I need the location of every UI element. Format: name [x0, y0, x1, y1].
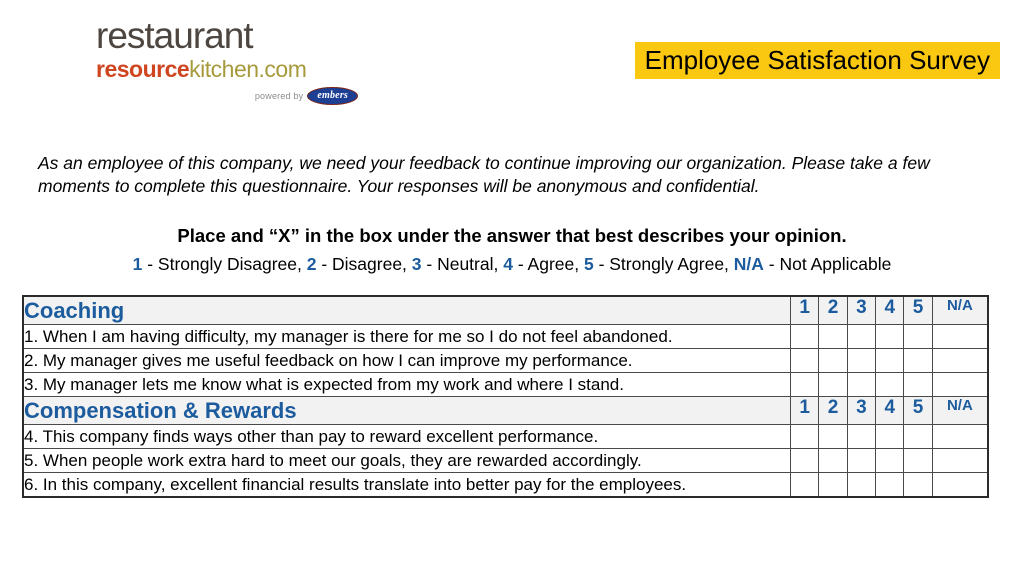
answer-cell-5[interactable] [904, 425, 932, 449]
question-row: 2. My manager gives me useful feedback o… [23, 349, 988, 373]
question-text: 2. My manager gives me useful feedback o… [23, 349, 791, 373]
answer-cell-4[interactable] [876, 349, 904, 373]
answer-cell-1[interactable] [791, 325, 819, 349]
page-header: restaurant resourcekitchen.com powered b… [0, 0, 1024, 118]
answer-cell-2[interactable] [819, 349, 847, 373]
answer-cell-na[interactable] [932, 349, 988, 373]
answer-cell-3[interactable] [847, 449, 875, 473]
legend-entry: 5 - Strongly Agree, [584, 254, 734, 274]
answer-cell-1[interactable] [791, 349, 819, 373]
answer-cell-4[interactable] [876, 373, 904, 397]
intro-paragraph: As an employee of this company, we need … [38, 118, 1002, 198]
legend-entry: 1 - Strongly Disagree, [133, 254, 307, 274]
answer-cell-4[interactable] [876, 449, 904, 473]
page-title: Employee Satisfaction Survey [635, 42, 1000, 79]
scale-header-4: 4 [876, 397, 904, 425]
embers-logo-icon: embers [307, 87, 358, 105]
answer-cell-2[interactable] [819, 373, 847, 397]
legend-label: - Strongly Agree, [594, 254, 734, 274]
survey-title-wrap: Employee Satisfaction Survey [635, 42, 1000, 79]
legend-entry: 2 - Disagree, [307, 254, 412, 274]
legend-entry: 4 - Agree, [503, 254, 584, 274]
legend-key: 1 [133, 254, 143, 274]
answer-cell-1[interactable] [791, 425, 819, 449]
answer-cell-4[interactable] [876, 325, 904, 349]
scale-header-na: N/A [932, 296, 988, 325]
scale-header-3: 3 [847, 397, 875, 425]
answer-cell-1[interactable] [791, 473, 819, 498]
answer-cell-2[interactable] [819, 449, 847, 473]
question-text: 3. My manager lets me know what is expec… [23, 373, 791, 397]
answer-cell-2[interactable] [819, 325, 847, 349]
scale-header-na: N/A [932, 397, 988, 425]
answer-cell-na[interactable] [932, 325, 988, 349]
answer-cell-na[interactable] [932, 373, 988, 397]
answer-cell-4[interactable] [876, 473, 904, 498]
answer-cell-5[interactable] [904, 373, 932, 397]
survey-table-wrap: Coaching 1 2 3 4 5 N/A 1. When I am havi… [22, 295, 989, 498]
legend-label: - Strongly Disagree, [142, 254, 306, 274]
answer-cell-na[interactable] [932, 449, 988, 473]
logo-word-restaurant: restaurant [96, 16, 366, 56]
section-header-row: Compensation & Rewards 1 2 3 4 5 N/A [23, 397, 988, 425]
section-header-row: Coaching 1 2 3 4 5 N/A [23, 296, 988, 325]
scale-header-2: 2 [819, 296, 847, 325]
question-row: 5. When people work extra hard to meet o… [23, 449, 988, 473]
legend-label: - Agree, [513, 254, 584, 274]
answer-cell-na[interactable] [932, 473, 988, 498]
answer-cell-3[interactable] [847, 473, 875, 498]
legend-entry: N/A - Not Applicable [734, 254, 892, 274]
legend-key: 5 [584, 254, 594, 274]
logo-word-resourcekitchen: resourcekitchen.com [96, 56, 366, 82]
question-row: 3. My manager lets me know what is expec… [23, 373, 988, 397]
legend-label: - Neutral, [422, 254, 504, 274]
question-text: 4. This company finds ways other than pa… [23, 425, 791, 449]
rating-scale-legend: 1 - Strongly Disagree, 2 - Disagree, 3 -… [0, 248, 1024, 276]
legend-entry: 3 - Neutral, [412, 254, 503, 274]
section-title-coaching: Coaching [23, 296, 791, 325]
legend-key: 2 [307, 254, 317, 274]
scale-header-5: 5 [904, 397, 932, 425]
question-text: 1. When I am having difficulty, my manag… [23, 325, 791, 349]
answer-cell-3[interactable] [847, 425, 875, 449]
legend-label: - Disagree, [316, 254, 411, 274]
legend-key: 4 [503, 254, 513, 274]
answer-cell-4[interactable] [876, 425, 904, 449]
answer-cell-1[interactable] [791, 449, 819, 473]
logo-word-resource: resource [96, 56, 189, 82]
answer-cell-1[interactable] [791, 373, 819, 397]
scale-header-4: 4 [876, 296, 904, 325]
scale-header-3: 3 [847, 296, 875, 325]
question-text: 6. In this company, excellent financial … [23, 473, 791, 498]
scale-header-2: 2 [819, 397, 847, 425]
instruction-headline: Place and “X” in the box under the answe… [0, 198, 1024, 248]
powered-by-line: powered by embers [96, 87, 366, 105]
section-title-compensation-rewards: Compensation & Rewards [23, 397, 791, 425]
scale-header-1: 1 [791, 397, 819, 425]
answer-cell-5[interactable] [904, 349, 932, 373]
scale-header-5: 5 [904, 296, 932, 325]
answer-cell-na[interactable] [932, 425, 988, 449]
survey-table: Coaching 1 2 3 4 5 N/A 1. When I am havi… [22, 295, 989, 498]
question-text: 5. When people work extra hard to meet o… [23, 449, 791, 473]
legend-key: N/A [734, 254, 764, 274]
scale-header-1: 1 [791, 296, 819, 325]
legend-key: 3 [412, 254, 422, 274]
powered-by-label: powered by [255, 91, 304, 101]
answer-cell-3[interactable] [847, 373, 875, 397]
answer-cell-5[interactable] [904, 325, 932, 349]
question-row: 6. In this company, excellent financial … [23, 473, 988, 498]
question-row: 4. This company finds ways other than pa… [23, 425, 988, 449]
answer-cell-3[interactable] [847, 349, 875, 373]
answer-cell-3[interactable] [847, 325, 875, 349]
answer-cell-5[interactable] [904, 449, 932, 473]
question-row: 1. When I am having difficulty, my manag… [23, 325, 988, 349]
brand-logo: restaurant resourcekitchen.com powered b… [96, 16, 366, 105]
answer-cell-2[interactable] [819, 425, 847, 449]
answer-cell-2[interactable] [819, 473, 847, 498]
logo-word-kitchen: kitchen.com [189, 56, 306, 82]
legend-label: - Not Applicable [764, 254, 891, 274]
answer-cell-5[interactable] [904, 473, 932, 498]
